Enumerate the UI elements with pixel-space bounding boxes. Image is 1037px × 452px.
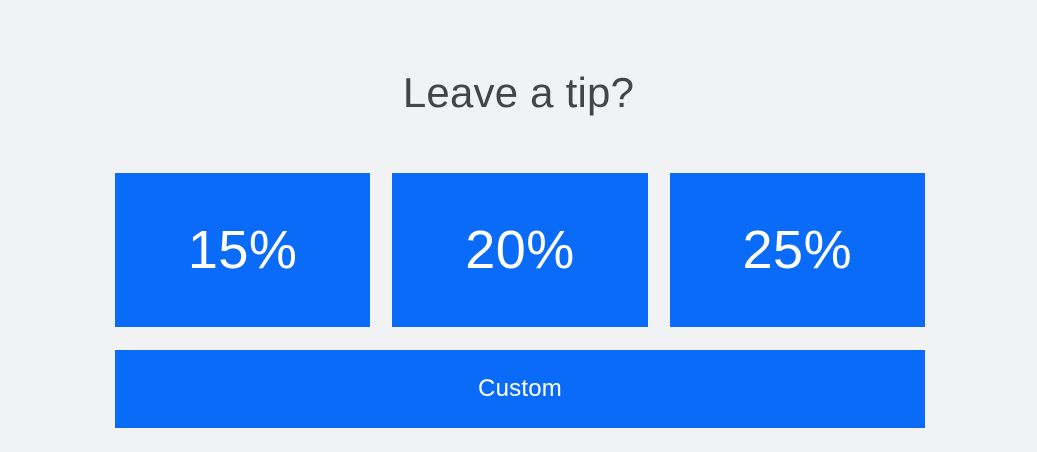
tip-option-label: 20% bbox=[465, 220, 575, 280]
tip-option-15-button[interactable]: 15% bbox=[115, 173, 370, 327]
custom-tip-label: Custom bbox=[478, 375, 562, 403]
tip-option-25-button[interactable]: 25% bbox=[670, 173, 925, 327]
tip-option-20-button[interactable]: 20% bbox=[392, 173, 647, 327]
tip-option-label: 15% bbox=[188, 220, 298, 280]
tip-options-row: 15% 20% 25% bbox=[115, 173, 925, 327]
tip-selection-screen: Leave a tip? 15% 20% 25% Custom bbox=[0, 0, 1037, 452]
custom-tip-button[interactable]: Custom bbox=[115, 350, 925, 428]
tip-option-label: 25% bbox=[743, 220, 853, 280]
page-title: Leave a tip? bbox=[0, 68, 1037, 118]
